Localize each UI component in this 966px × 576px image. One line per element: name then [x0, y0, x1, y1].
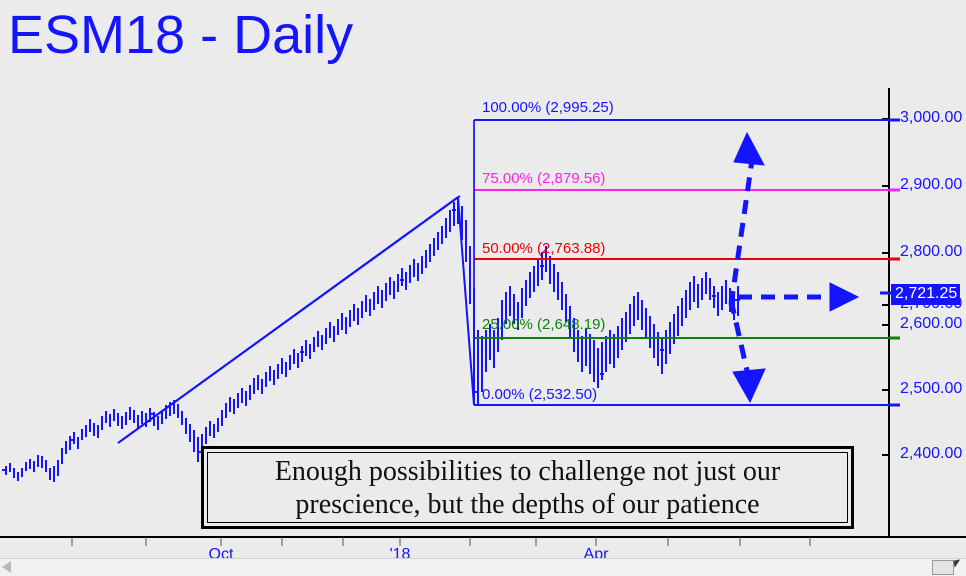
annotation-box[interactable]: Enough possibilities to challenge not ju…	[201, 446, 854, 529]
trendline-group	[118, 196, 474, 443]
horizontal-scrollbar[interactable]	[0, 558, 966, 576]
fib-label-100: 100.00% (2,995.25)	[482, 99, 614, 116]
annotation-inner-border: Enough possibilities to challenge not ju…	[207, 452, 848, 523]
fib-label-0: 0.00% (2,532.50)	[482, 386, 597, 403]
scrollbar-thumb[interactable]	[932, 560, 954, 575]
fib-axis-markers	[889, 120, 900, 405]
bullish-breakout-arrow-shaft	[731, 160, 752, 305]
sideways-arrow-head	[830, 283, 858, 311]
fib-label-25: 25.00% (2,648.19)	[482, 316, 605, 333]
price-tick-2600: 2,600.00	[900, 315, 962, 333]
annotation-text: Enough possibilities to challenge not ju…	[208, 455, 847, 521]
price-bars	[6, 198, 738, 482]
price-tick-2800: 2,800.00	[900, 243, 962, 261]
fib-label-50: 50.00% (2,763.88)	[482, 240, 605, 257]
bullish-breakout-arrow-head	[734, 133, 764, 165]
mouse-cursor-icon	[953, 559, 961, 567]
scroll-left-arrow-icon[interactable]	[2, 561, 11, 573]
bearish-breakdown-arrow-head	[733, 369, 765, 402]
uptrend-line-upper	[118, 196, 460, 443]
chart-window: ESM18 - Daily	[0, 0, 966, 576]
last-price-badge[interactable]: 2,721.25	[891, 284, 960, 305]
scenario-arrows	[731, 133, 858, 402]
price-bar-ticks	[2, 210, 740, 470]
price-tick-2500: 2,500.00	[900, 380, 962, 398]
price-tick-2400: 2,400.00	[900, 445, 962, 463]
price-tick-2900: 2,900.00	[900, 176, 962, 194]
date-axis-ticks	[72, 537, 810, 546]
price-tick-3000: 3,000.00	[900, 109, 962, 127]
fibonacci-retracement	[474, 120, 889, 405]
fib-label-75: 75.00% (2,879.56)	[482, 170, 605, 187]
